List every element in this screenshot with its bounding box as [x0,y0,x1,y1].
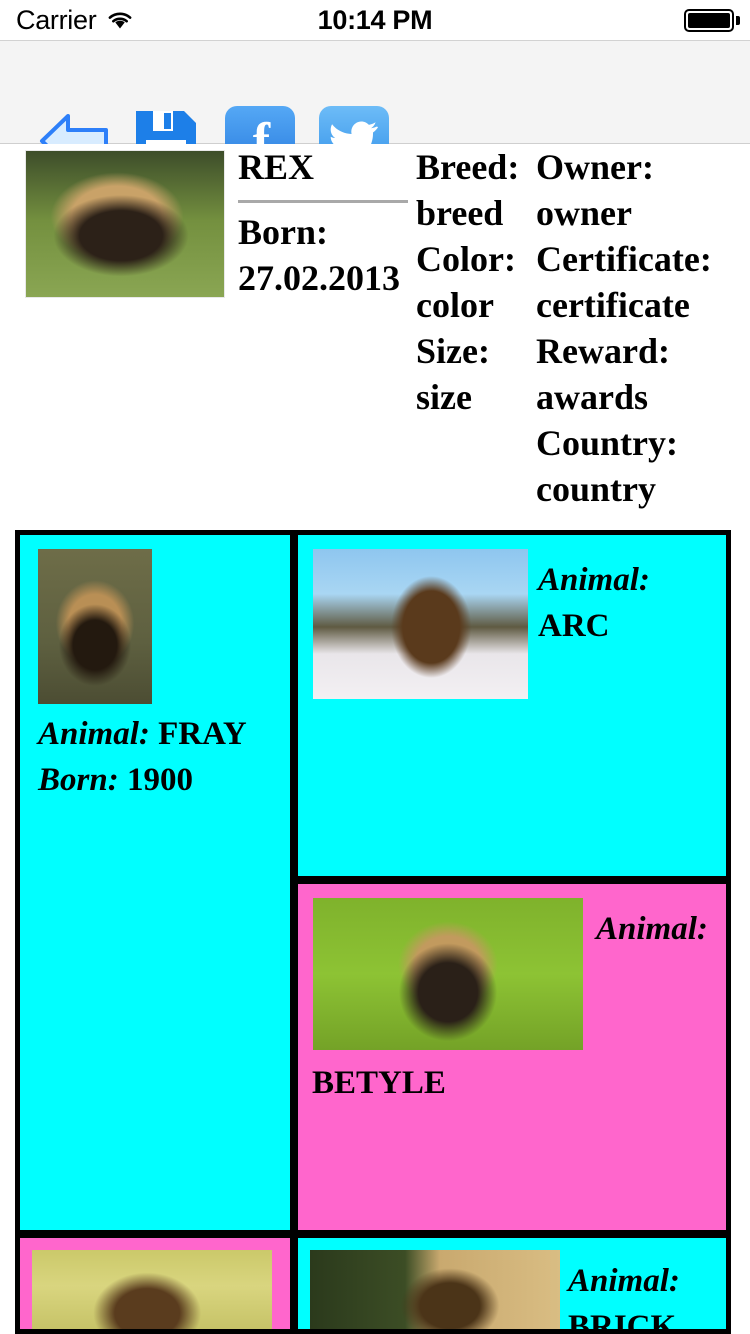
betyle-name: BETYLE [312,1060,612,1106]
animal-identity-column: REX Born: 27.02.2013 [238,144,416,301]
animal-label: Animal: [568,1258,726,1304]
fray-text-block: Animal: FRAY Born: 1900 [38,711,288,803]
fray-name: FRAY [158,716,247,752]
betyle-name-block: BETYLE [312,1060,612,1106]
rex-photo-art [26,151,224,297]
country-value: country [536,466,742,512]
betyle-label-block: Animal: [596,906,726,952]
pedigree-tree: Animal: FRAY Born: 1900 Animal: ARC Anim… [15,530,731,1334]
pedigree-cell-arc[interactable]: Animal: ARC [298,535,726,876]
pedigree-cell-bottom-left[interactable] [20,1238,290,1329]
fray-born: 1900 [127,762,193,798]
bottom-left-photo-art [32,1250,272,1329]
reward-label: Reward: [536,328,742,374]
brick-text-block: Animal: BRICK [568,1258,726,1329]
arc-photo [313,549,528,699]
born-label: Born: [38,762,119,798]
battery-icon [684,9,734,32]
animal-label: Animal: [596,906,726,952]
pedigree-cell-fray[interactable]: Animal: FRAY Born: 1900 [20,535,290,1230]
color-value: color [416,282,534,328]
clock-label: 10:14 PM [0,6,750,34]
brick-photo [310,1250,560,1329]
born-label: Born: [238,209,416,255]
betyle-photo-art [313,898,583,1050]
pedigree-cell-brick[interactable]: Animal: BRICK [298,1238,726,1329]
certificate-label: Certificate: [536,236,742,282]
animal-name: REX [238,144,416,190]
bottom-left-photo [32,1250,272,1329]
battery-fill [688,13,730,28]
brick-name: BRICK [568,1304,726,1329]
certificate-value: certificate [536,282,742,328]
animal-attributes-column-2: Owner: owner Certificate: certificate Re… [536,144,742,512]
animal-label: Animal: [38,716,150,752]
born-value: 27.02.2013 [238,255,416,301]
arc-photo-art [313,549,528,699]
size-label: Size: [416,328,534,374]
arc-text-block: Animal: ARC [538,557,723,649]
toolbar: f [0,41,750,144]
owner-value: owner [536,190,742,236]
country-label: Country: [536,420,742,466]
fray-photo-art [38,549,152,704]
arc-name: ARC [538,603,723,649]
size-value: size [416,374,534,420]
divider [238,200,408,203]
animal-label: Animal: [538,557,723,603]
animal-attributes-column-1: Breed: breed Color: color Size: size [416,144,534,420]
breed-value: breed [416,190,534,236]
color-label: Color: [416,236,534,282]
reward-value: awards [536,374,742,420]
breed-label: Breed: [416,144,534,190]
pedigree-cell-betyle[interactable]: Animal: BETYLE [298,884,726,1230]
owner-label: Owner: [536,144,742,190]
fray-photo [38,549,152,704]
battery-cap [736,16,740,25]
brick-photo-art [310,1250,560,1329]
animal-info-header: REX Born: 27.02.2013 Breed: breed Color:… [0,144,750,528]
betyle-photo [313,898,583,1050]
status-bar: Carrier 10:14 PM [0,0,750,41]
animal-photo[interactable] [25,150,225,298]
